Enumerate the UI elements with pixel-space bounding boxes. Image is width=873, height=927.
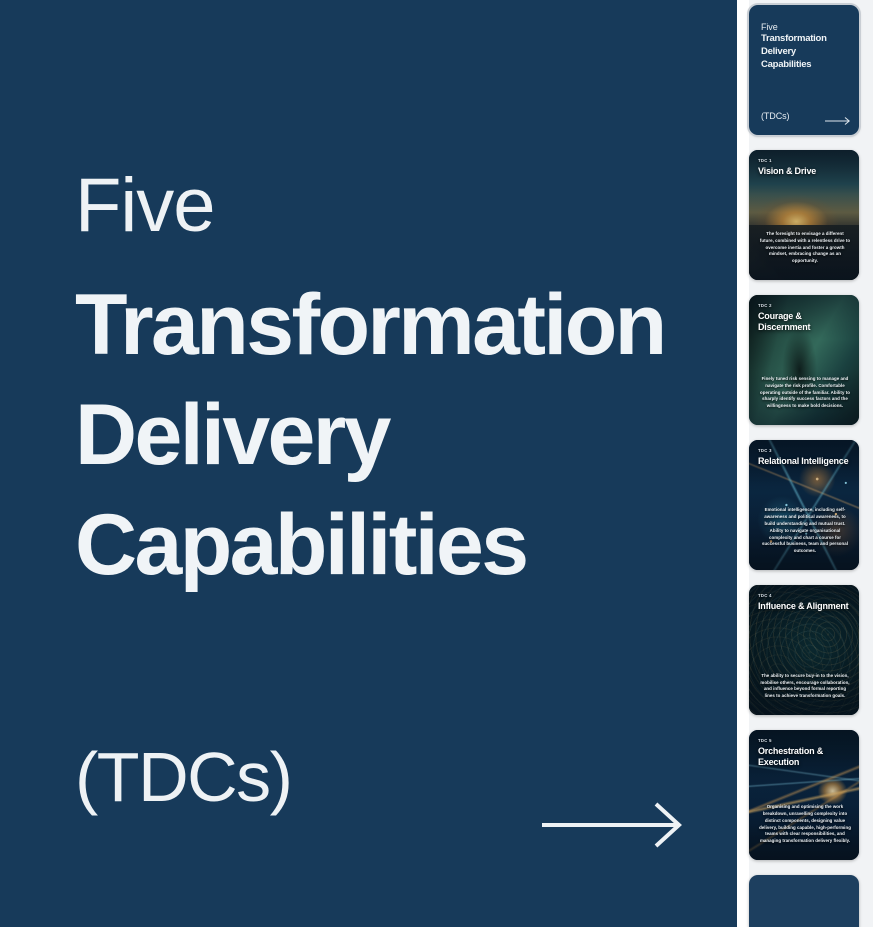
thumb-description: Finely tuned risk sensing to manage and …	[758, 376, 852, 418]
thumb-title-line-transformation: Transformation	[761, 33, 849, 46]
thumb-description: The ability to secure buy-in to the visi…	[758, 673, 852, 708]
thumb-acronym: (TDCs)	[761, 111, 789, 121]
slide-content: Five Transformation Delivery Capabilitie…	[75, 0, 697, 927]
thumb-description: The foresight to envisage a different fu…	[758, 231, 852, 273]
thumb-eyebrow: TDC 5	[758, 738, 852, 743]
thumbnail-slide-4[interactable]: TDC 3 Relational Intelligence Emotional …	[749, 440, 859, 570]
thumb-arrow-right-icon	[825, 113, 851, 123]
rail-scroll-area[interactable]: Five Transformation Delivery Capabilitie…	[737, 0, 873, 927]
thumbnail-slide-6[interactable]: TDC 5 Orchestration & Execution Organisi…	[749, 730, 859, 860]
presentation-viewer: Five Transformation Delivery Capabilitie…	[0, 0, 873, 927]
thumbnail-slide-1[interactable]: Five Transformation Delivery Capabilitie…	[749, 5, 859, 135]
thumb-description: Emotional intelligence, including self-a…	[758, 507, 852, 563]
slide-canvas[interactable]: Five Transformation Delivery Capabilitie…	[0, 0, 737, 927]
thumb-heading: Vision & Drive	[758, 166, 852, 177]
thumb-heading: Orchestration & Execution	[758, 746, 852, 768]
thumb-heading: Relational Intelligence	[758, 456, 852, 467]
thumb-heading: Influence & Alignment	[758, 601, 852, 612]
thumb-title-line-delivery: Delivery	[761, 46, 849, 59]
thumbnail-slide-3[interactable]: TDC 2 Courage & Discernment Finely tuned…	[749, 295, 859, 425]
slide-thumbnail-rail[interactable]: Five Transformation Delivery Capabilitie…	[737, 0, 873, 927]
slide-title-block: Five Transformation Delivery Capabilitie…	[75, 168, 697, 588]
slide-title-line-capabilities: Capabilities	[75, 502, 697, 588]
arrow-right-icon[interactable]	[540, 800, 685, 850]
thumb-description: Organising and optimising the work break…	[758, 804, 852, 853]
thumb-eyebrow: TDC 3	[758, 448, 852, 453]
thumb-eyebrow: TDC 1	[758, 158, 852, 163]
thumbnail-slide-7-feedback[interactable]: Feedback	[749, 875, 859, 927]
slide-title-line-transformation: Transformation	[75, 282, 697, 368]
thumb-title-line-capabilities: Capabilities	[761, 59, 849, 72]
slide-title-line-five: Five	[75, 168, 697, 244]
thumb-heading: Courage & Discernment	[758, 311, 852, 333]
thumb-title-line-five: Five	[761, 21, 849, 33]
thumb-eyebrow: TDC 2	[758, 303, 852, 308]
slide-acronym: (TDCs)	[75, 742, 291, 812]
slide-title-line-delivery: Delivery	[75, 392, 697, 478]
thumbnail-slide-5[interactable]: TDC 4 Influence & Alignment The ability …	[749, 585, 859, 715]
thumbnail-slide-2[interactable]: TDC 1 Vision & Drive The foresight to en…	[749, 150, 859, 280]
thumb-eyebrow: TDC 4	[758, 593, 852, 598]
